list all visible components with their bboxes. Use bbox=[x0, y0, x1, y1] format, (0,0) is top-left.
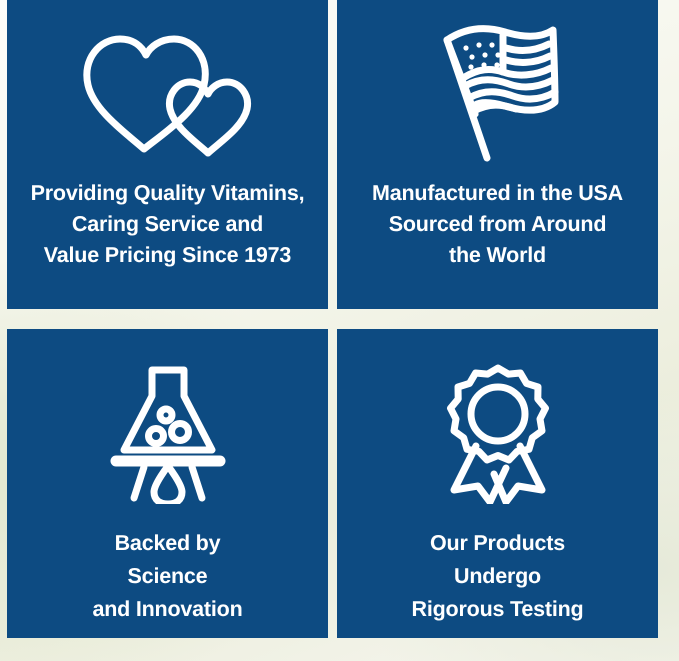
panel-rigorous-testing[interactable]: Our Products Undergo Rigorous Testing bbox=[337, 329, 658, 638]
value-prop-infographic: Providing Quality Vitamins, Caring Servi… bbox=[0, 0, 679, 661]
lab-flask-icon bbox=[7, 329, 328, 515]
usa-flag-icon bbox=[337, 0, 658, 172]
panel-text-line: Science bbox=[92, 560, 242, 593]
panel-text-line: the World bbox=[372, 240, 623, 271]
panel-text-line: Providing Quality Vitamins, bbox=[31, 178, 305, 209]
panel-text-backed-by-science: Backed by Science and Innovation bbox=[92, 527, 242, 626]
panel-text-line: Our Products bbox=[412, 527, 584, 560]
panel-text-quality-vitamins: Providing Quality Vitamins, Caring Servi… bbox=[31, 178, 305, 271]
panel-text-line: and Innovation bbox=[92, 593, 242, 626]
panel-backed-by-science[interactable]: Backed by Science and Innovation bbox=[7, 329, 328, 638]
two-hearts-icon bbox=[7, 0, 328, 170]
panel-text-manufactured-usa: Manufactured in the USA Sourced from Aro… bbox=[372, 178, 623, 271]
panel-text-rigorous-testing: Our Products Undergo Rigorous Testing bbox=[412, 527, 584, 626]
panel-manufactured-usa[interactable]: Manufactured in the USA Sourced from Aro… bbox=[337, 0, 658, 309]
panel-text-line: Value Pricing Since 1973 bbox=[31, 240, 305, 271]
panel-text-line: Sourced from Around bbox=[372, 209, 623, 240]
panel-grid: Providing Quality Vitamins, Caring Servi… bbox=[7, 0, 658, 638]
panel-quality-vitamins[interactable]: Providing Quality Vitamins, Caring Servi… bbox=[7, 0, 328, 309]
panel-text-line: Undergo bbox=[412, 560, 584, 593]
panel-text-line: Manufactured in the USA bbox=[372, 178, 623, 209]
panel-text-line: Rigorous Testing bbox=[412, 593, 584, 626]
panel-text-line: Caring Service and bbox=[31, 209, 305, 240]
award-ribbon-icon bbox=[337, 329, 658, 515]
panel-text-line: Backed by bbox=[92, 527, 242, 560]
